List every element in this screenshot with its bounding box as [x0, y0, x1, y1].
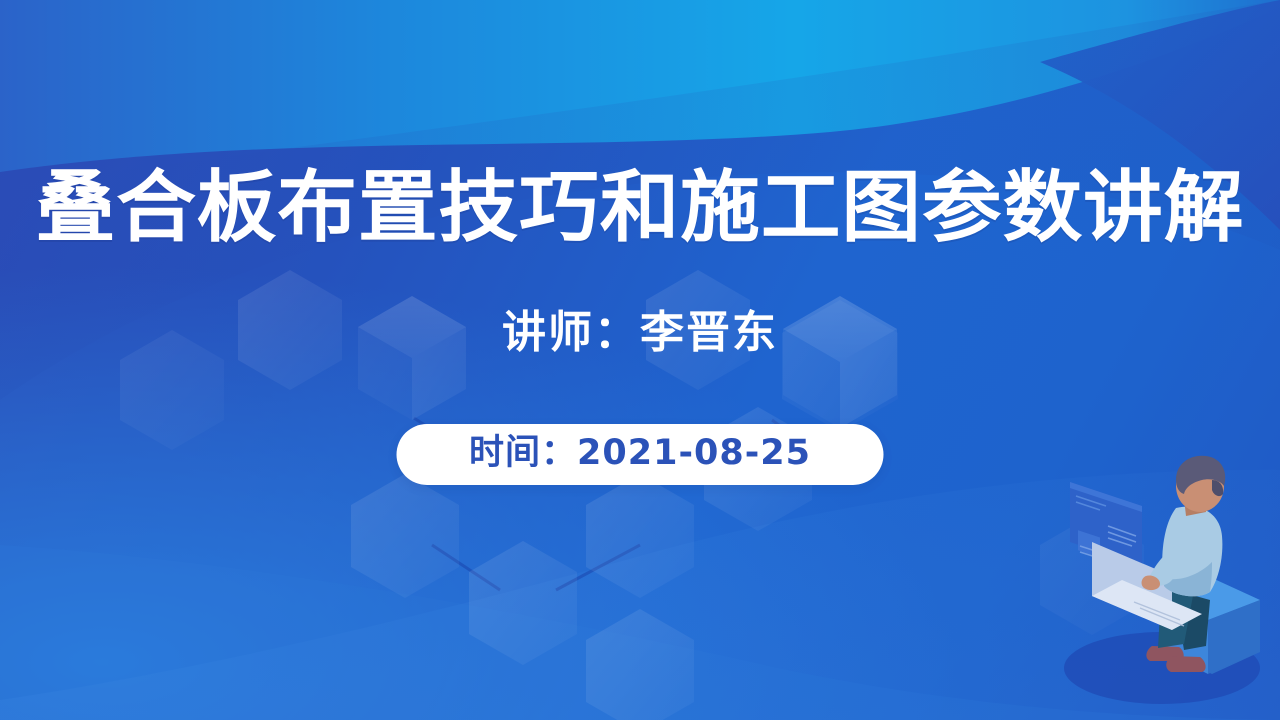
wave-band-cyan [0, 0, 1280, 172]
speaker-label: 讲师：李晋东 [0, 303, 1280, 363]
date-badge: 时间：2021-08-25 [397, 424, 884, 485]
illustration-person-with-laptop [1034, 450, 1274, 720]
shoes [1166, 656, 1205, 672]
title-slide: 叠合板布置技巧和施工图参数讲解 讲师：李晋东 时间：2021-08-25 [0, 0, 1280, 720]
date-text: 时间：2021-08-25 [469, 436, 811, 471]
wave-curve-upper-left [0, 0, 1280, 172]
page-title: 叠合板布置技巧和施工图参数讲解 [0, 160, 1280, 256]
